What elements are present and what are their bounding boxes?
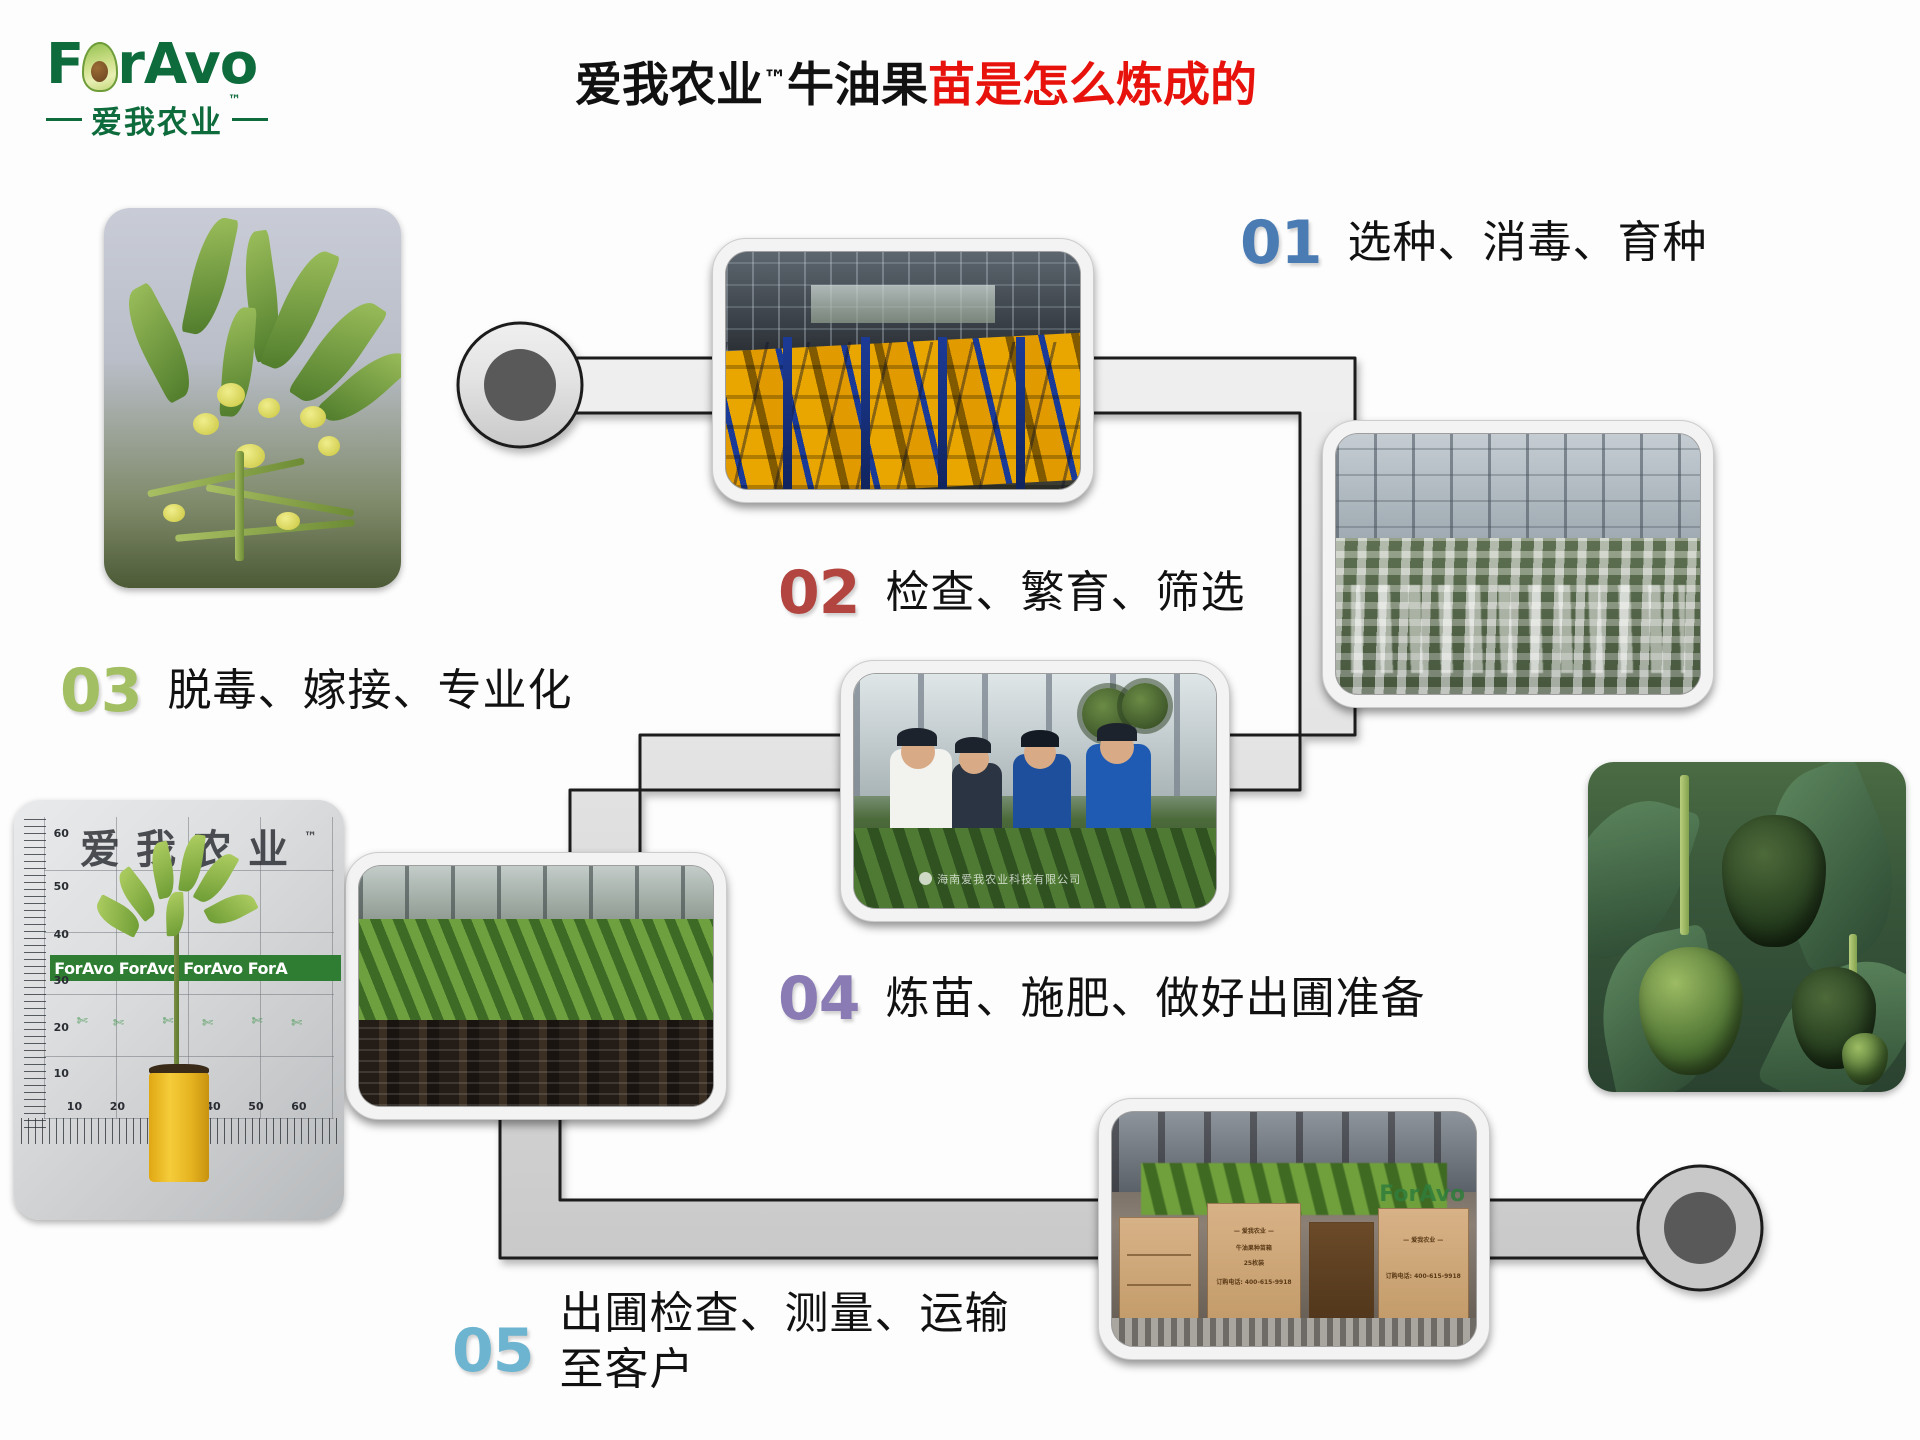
connector-end-dot (1664, 1192, 1736, 1264)
step-01-text: 选种、消毒、育种 (1348, 212, 1708, 274)
ruler-band-text: ForAvo ForAvo ForAvo ForA (54, 959, 287, 978)
step-05: 05 出圃检查、测量、运输 至客户 (452, 1290, 1010, 1398)
step-05-text: 出圃检查、测量、运输 至客户 (560, 1286, 1010, 1398)
step-05-number: 05 (452, 1320, 534, 1382)
photo-avocado-fruit-on-tree (1588, 762, 1906, 1092)
box-brand: — 爱我农业 — (1207, 1228, 1302, 1236)
photo-staff-inspecting: 海南爱我农业科技有限公司 (840, 660, 1230, 922)
step-04-text: 炼苗、施肥、做好出圃准备 (886, 968, 1426, 1030)
box-brand-2: — 爱我农业 — (1378, 1237, 1469, 1245)
step-03: 03 脱毒、嫁接、专业化 (60, 660, 573, 722)
photo-greenhouse-seed-trays (712, 238, 1094, 503)
photo-avocado-flowers (104, 208, 401, 588)
step-02-text: 检查、繁育、筛选 (886, 562, 1246, 624)
step-05-text-line1: 出圃检查、测量、运输 (560, 1286, 1010, 1342)
step-01: 01 选种、消毒、育种 (1240, 212, 1708, 274)
step-02-number: 02 (778, 562, 860, 624)
photo-packed-boxes-shipping: — 爱我农业 — 牛油果种苗箱 25枚装 订购电话: 400-615-9918 … (1098, 1098, 1490, 1360)
step-03-text: 脱毒、嫁接、专业化 (168, 660, 573, 722)
step-01-number: 01 (1240, 212, 1322, 274)
photo-watermark-text: 海南爱我农业科技有限公司 (937, 873, 1081, 886)
photo-potted-seedling-rows (345, 852, 727, 1120)
ruler-backdrop-tm: ™ (304, 830, 317, 845)
step-03-number: 03 (60, 660, 142, 722)
step-04: 04 炼苗、施肥、做好出圃准备 (778, 968, 1426, 1030)
step-02: 02 检查、繁育、筛选 (778, 562, 1246, 624)
ruler-foravo-band: ForAvo ForAvo ForAvo ForA (50, 955, 340, 981)
box-phone-2: 订购电话: 400-615-9918 (1378, 1273, 1469, 1281)
connector-start-dot (484, 349, 556, 421)
photo-greenhouse-bagged-grafts (1322, 420, 1714, 708)
box-phone: 订购电话: 400-615-9918 (1207, 1279, 1302, 1287)
box-line3: 25枚装 (1207, 1260, 1302, 1268)
box-side-logo: ForAvo (1379, 1182, 1465, 1207)
photo-watermark: 海南爱我农业科技有限公司 (919, 871, 1081, 887)
step-05-text-line2: 至客户 (560, 1342, 1010, 1398)
photo-measured-seedling-ruler: 爱我农业™ ForAvo ForAvo ForAvo ForA 60 50 40… (14, 800, 344, 1220)
infographic-canvas: FrAvo 爱我农业™ 爱我农业™牛油果苗是怎么炼成的 (0, 0, 1920, 1440)
step-04-number: 04 (778, 968, 860, 1030)
box-line2: 牛油果种苗箱 (1207, 1245, 1302, 1253)
